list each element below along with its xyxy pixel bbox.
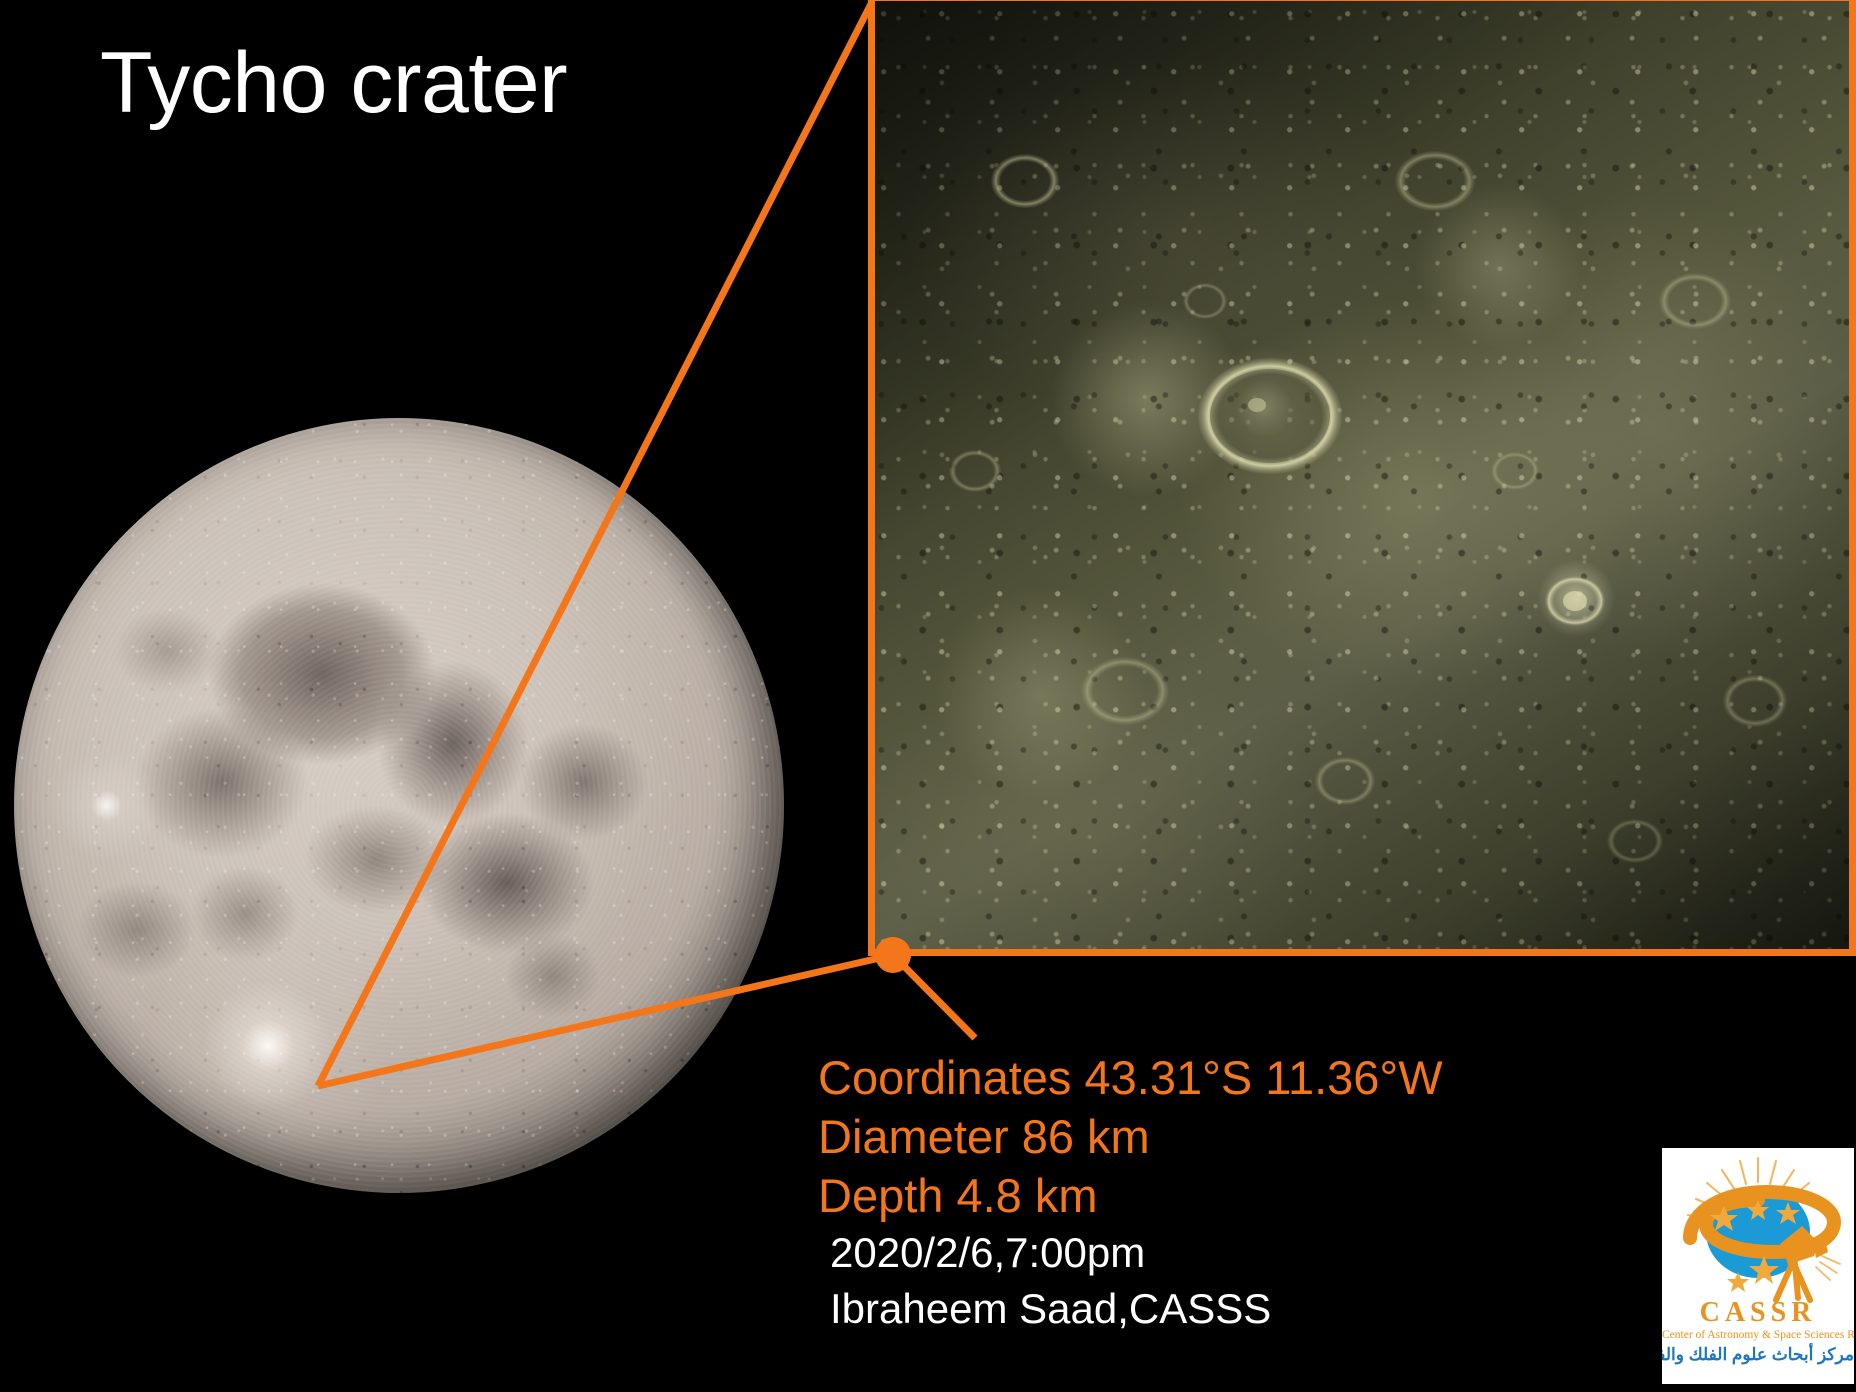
crater-info-block: Coordinates 43.31°S 11.36°W Diameter 86 … — [818, 1048, 1718, 1337]
moon-surface-texture — [14, 418, 784, 1193]
credit-line: Ibraheem Saad,CASSS — [818, 1281, 1718, 1337]
leader-line-to-caption — [893, 955, 975, 1038]
cassr-logo-artwork — [1662, 1152, 1854, 1304]
tycho-closeup-inset — [868, 0, 1856, 956]
diameter-line: Diameter 86 km — [818, 1107, 1718, 1166]
slide-canvas: Tycho crater Coordinates 43.31°S 11.36°W… — [0, 0, 1856, 1392]
crater-detail-overlay — [875, 1, 1849, 949]
depth-line: Depth 4.8 km — [818, 1166, 1718, 1225]
full-moon-photograph — [14, 418, 784, 1193]
logo-tagline: Center of Astronomy & Space Sciences Res… — [1662, 1328, 1854, 1342]
page-title: Tycho crater — [100, 38, 567, 128]
tycho-closeup-terrain — [875, 1, 1849, 949]
datetime-line: 2020/2/6,7:00pm — [818, 1225, 1718, 1281]
coordinates-line: Coordinates 43.31°S 11.36°W — [818, 1048, 1718, 1107]
logo-arabic-name: مركز أبحاث علوم الفلك والفضاء — [1662, 1344, 1854, 1366]
logo-wordmark: CASSR — [1662, 1298, 1854, 1328]
moon-disc — [14, 418, 784, 1193]
cassr-logo: CASSR Center of Astronomy & Space Scienc… — [1662, 1148, 1854, 1384]
